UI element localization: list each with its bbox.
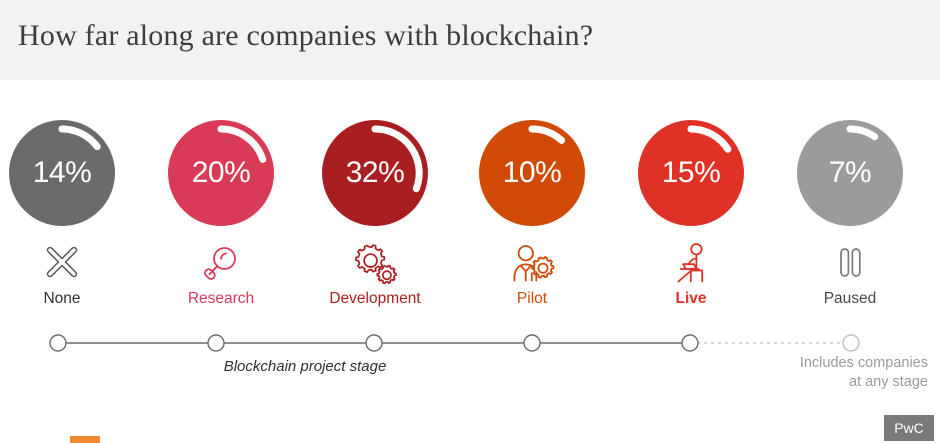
chart-area: 14% None 20% Research (0, 80, 940, 443)
stage-label-paused: Paused (770, 291, 930, 307)
pause-icon (770, 242, 930, 284)
timeline-node-live[interactable] (682, 335, 698, 351)
stage-column-live[interactable]: 15% Live (611, 80, 771, 307)
stage-column-paused[interactable]: 7% Paused (770, 80, 930, 307)
stage-column-research[interactable]: 20% Research (141, 80, 301, 307)
timeline-node-paused[interactable] (843, 335, 859, 351)
donut-value-research: 20% (168, 120, 274, 226)
gears-icon (295, 242, 455, 284)
timeline-node-pilot[interactable] (524, 335, 540, 351)
donut-value-live: 15% (638, 120, 744, 226)
page-title: How far along are companies with blockch… (18, 19, 593, 53)
magnifier-icon (141, 242, 301, 284)
donut-development: 32% (322, 120, 428, 226)
donut-value-pilot: 10% (479, 120, 585, 226)
timeline-node-development[interactable] (366, 335, 382, 351)
stage-label-none: None (0, 291, 142, 307)
person-gear-icon (452, 242, 612, 284)
timeline-node-none[interactable] (50, 335, 66, 351)
header-band: How far along are companies with blockch… (0, 0, 940, 80)
donut-none: 14% (9, 120, 115, 226)
timeline-caption: Blockchain project stage (0, 358, 610, 375)
stage-column-pilot[interactable]: 10% Pilot (452, 80, 612, 307)
footnote: Includes companies at any stage (762, 354, 928, 392)
donut-pilot: 10% (479, 120, 585, 226)
timeline-node-research[interactable] (208, 335, 224, 351)
stage-label-pilot: Pilot (452, 291, 612, 307)
pwc-logo: PwC (884, 415, 934, 441)
donut-value-paused: 7% (797, 120, 903, 226)
donut-live: 15% (638, 120, 744, 226)
person-laptop-icon (611, 242, 771, 284)
donut-research: 20% (168, 120, 274, 226)
stage-label-live: Live (611, 291, 771, 307)
footnote-line-1: Includes companies (762, 354, 928, 373)
donut-value-development: 32% (322, 120, 428, 226)
footnote-line-2: at any stage (762, 373, 928, 392)
donut-paused: 7% (797, 120, 903, 226)
accent-bar (70, 436, 100, 443)
donut-value-none: 14% (9, 120, 115, 226)
stage-label-research: Research (141, 291, 301, 307)
stage-label-development: Development (295, 291, 455, 307)
cross-x-icon (0, 242, 142, 284)
stage-column-none[interactable]: 14% None (0, 80, 142, 307)
stage-column-development[interactable]: 32% Development (295, 80, 455, 307)
